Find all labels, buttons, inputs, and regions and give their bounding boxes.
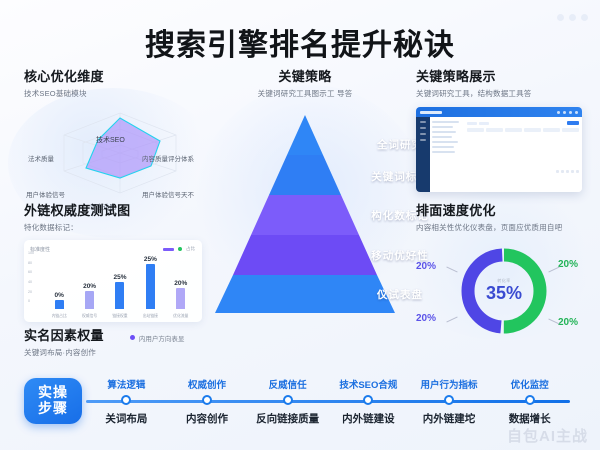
page-button [576,170,579,173]
radar-axis-label-2: 用户体验信号天不 [142,189,194,199]
sidebar-item-icon [420,121,426,123]
step-dot-icon [121,395,131,405]
radar-chart: 技术SEO 内容质量评分体系 用户体验信号天不 留言达图 用户体验信号 法术质量 [24,101,214,196]
dashboard-panel-subtitle: 关键词研究工具，结构数据工具答 [416,88,588,99]
pyramid-chart: 全词研究 关键词标记 构化数标记 移动优好性 仪试表盘 [210,115,400,335]
legend-dot-icon [130,335,135,340]
step-dot-icon [363,395,373,405]
dashboard-sidebar [416,117,430,192]
dashboard-tree-nav [430,117,464,192]
step-top-label: 优化监控 [511,377,549,391]
donut-slice-label-right-top: 20% [558,259,578,270]
bar-item: 20% [168,254,194,309]
dot-icon [575,111,578,114]
timeline-step[interactable]: 优化监控 数据增长 [489,378,570,424]
steps-badge-line1: 实操 [38,385,68,401]
dashboard-panel-title: 关键策略展示 [416,66,588,85]
y-tick: 20 [28,291,44,295]
step-bottom-label: 数据增长 [509,411,551,426]
table-row [467,149,579,152]
filter-chip [467,122,477,125]
dashboard-table-area [464,117,582,192]
timeline-step[interactable]: 算法逻辑 关词布局 [86,378,167,424]
tree-item [432,146,454,148]
bar-chart-x-axis: 内链占比 权威信号 链接权重 出站链接 优化流量 [44,314,196,319]
steps-legend: 内用户方向表显 [130,333,185,343]
steps-panel-subtitle: 关键词布局·内容创作 [24,347,104,358]
bar-chart-legend: 占比 [163,246,195,252]
x-tick: 优化流量 [168,314,194,319]
bar-series: 0% 20% 25% 25% [44,254,196,309]
table-row [467,164,579,167]
bar-chart-plot: 0% 20% 25% 25% [44,254,196,309]
bar-chart-card: 标准度性 占比 100 80 60 40 20 0 0% [24,240,202,322]
step-dot-icon [202,395,212,405]
tree-item [432,126,453,128]
filter-chip [479,122,489,125]
step-bottom-label: 内外链建设 [342,411,395,426]
bar-value-label: 20% [174,280,187,287]
dot-icon [563,111,566,114]
x-tick: 出站链接 [137,314,163,319]
radar-panel-subtitle: 技术SEO基础模块 [24,88,214,99]
sidebar-item-icon [420,133,426,135]
page-button [556,170,559,173]
tree-item [432,151,455,153]
steps-header: 实名因素权量 关键词布局·内容创作 内用户方向表显 [24,325,576,358]
dashboard-logo-icon [420,111,442,114]
table-pagination [467,170,579,173]
dot-icon [569,111,572,114]
tree-item [432,121,459,123]
bar-value-label: 25% [144,256,157,263]
table-row [467,139,579,142]
radar-panel: 核心优化维度 技术SEO基础模块 技术SEO 内容质量评分体系 [24,66,214,196]
steps-panel-title: 实名因素权量 [24,325,104,344]
dashboard-panel: 关键策略展示 关键词研究工具，结构数据工具答 [416,66,588,192]
legend-label-series-1: 占比 [186,246,195,252]
steps-badge-line2: 步骤 [38,401,68,417]
dashboard-toolbar [467,120,579,126]
bar-chart-panel: 外链权威度测试图 特化数据标记： 标准度性 占比 100 80 60 40 20… [24,200,214,322]
bar-rect [85,291,94,309]
bar-rect [55,300,64,309]
table-header-row [467,128,579,132]
bar-rect [115,282,124,310]
dot-icon [557,111,560,114]
bar-rect [146,264,155,309]
donut-panel-title: 排面速度优化 [416,200,592,219]
legend-dot-series-1 [178,247,182,251]
bar-item: 25% [137,254,163,309]
radar-axis-label-0: 技术SEO [96,135,125,145]
pyramid-panel-title: 关键策略 [210,66,400,85]
page-button [571,170,574,173]
step-dot-icon [444,395,454,405]
page-button [566,170,569,173]
watermark: 自包AI主战 [507,425,588,446]
tree-item [432,136,452,138]
y-tick: 0 [28,300,44,304]
page-button [561,170,564,173]
timeline-nodes: 算法逻辑 关词布局 权威创作 内容创作 反威信任 反向链接质量 技术SEO合规 [86,378,570,424]
step-bottom-label: 内外链建坨 [423,411,476,426]
step-top-label: 算法逻辑 [107,377,145,391]
step-bottom-label: 反向链接质量 [256,411,319,426]
steps-timeline: 实操 步骤 算法逻辑 关词布局 权威创作 内容创作 反威信任 反向 [24,370,576,432]
radar-axis-label-1: 内容质量评分体系 [142,153,194,163]
steps-panel: 实名因素权量 关键词布局·内容创作 内用户方向表显 实操 步骤 算法逻辑 关词布… [24,325,576,432]
legend-swatch-series-0 [163,248,174,251]
sidebar-item-icon [420,127,426,129]
bar-chart-y-axis: 100 80 60 40 20 0 [28,252,44,304]
bar-panel-title: 外链权威度测试图 [24,200,214,219]
y-tick: 60 [28,271,44,275]
bar-item: 25% [107,254,133,309]
step-top-label: 反威信任 [269,377,307,391]
tree-item [432,131,456,133]
sidebar-item-icon [420,139,426,141]
radar-axis-label-4: 用户体验信号 [26,189,65,199]
dashboard-screenshot [416,107,582,192]
step-bottom-label: 内容创作 [186,411,228,426]
tree-item [432,141,458,143]
dashboard-titlebar [416,107,582,117]
step-bottom-label: 关词布局 [105,411,147,426]
table-row [467,144,579,147]
step-top-label: 权威创作 [188,377,226,391]
donut-slice-label-left-top: 20% [416,261,436,272]
donut-slice-label-left-bottom: 20% [416,313,436,324]
table-row [467,154,579,157]
donut-panel-subtitle: 内容相关性优化仪表盘，页面应优质用自吧 [416,222,592,233]
dashboard-body [416,117,582,192]
x-tick: 权威信号 [77,314,103,319]
radar-axis-label-5: 法术质量 [28,153,54,163]
bar-item: 20% [77,254,103,309]
y-tick: 100 [28,252,44,256]
step-top-label: 用户行为指标 [421,377,478,391]
pyramid-panel: 关键策略 关键词研究工具图示工 导答 全词研究 关键词标记 构化数标记 移动优好… [210,66,400,335]
timeline-step[interactable]: 技术SEO合规 内外链建设 [328,378,409,424]
pyramid-panel-subtitle: 关键词研究工具图示工 导答 [210,88,400,99]
timeline-step[interactable]: 反威信任 反向链接质量 [247,378,328,424]
primary-button [567,121,579,125]
timeline-step[interactable]: 用户行为指标 内外链建坨 [409,378,490,424]
x-tick: 内链占比 [46,314,72,319]
radar-panel-title: 核心优化维度 [24,66,214,85]
donut-center-value: 35% [486,284,522,304]
bar-panel-subtitle: 特化数据标记： [24,222,214,233]
bar-value-label: 20% [83,283,96,290]
timeline-step[interactable]: 权威创作 内容创作 [167,378,248,424]
bar-value-label: 25% [113,274,126,281]
bar-rect [176,288,185,309]
y-tick: 80 [28,262,44,266]
bar-value-label: 0% [54,292,63,299]
y-tick: 40 [28,281,44,285]
steps-badge: 实操 步骤 [24,378,82,424]
steps-legend-label: 内用户方向表显 [139,333,185,343]
x-tick: 链接权重 [107,314,133,319]
step-dot-icon [283,395,293,405]
bar-item: 0% [46,254,72,309]
step-top-label: 技术SEO合规 [339,377,397,391]
table-row [467,134,579,137]
step-dot-icon [525,395,535,405]
page-title: 搜索引擎排名提升秘诀 [0,20,600,64]
table-row [467,159,579,162]
infographic-canvas: 搜索引擎排名提升秘诀 核心优化维度 技术SEO基础模块 技术SEO [0,0,600,450]
